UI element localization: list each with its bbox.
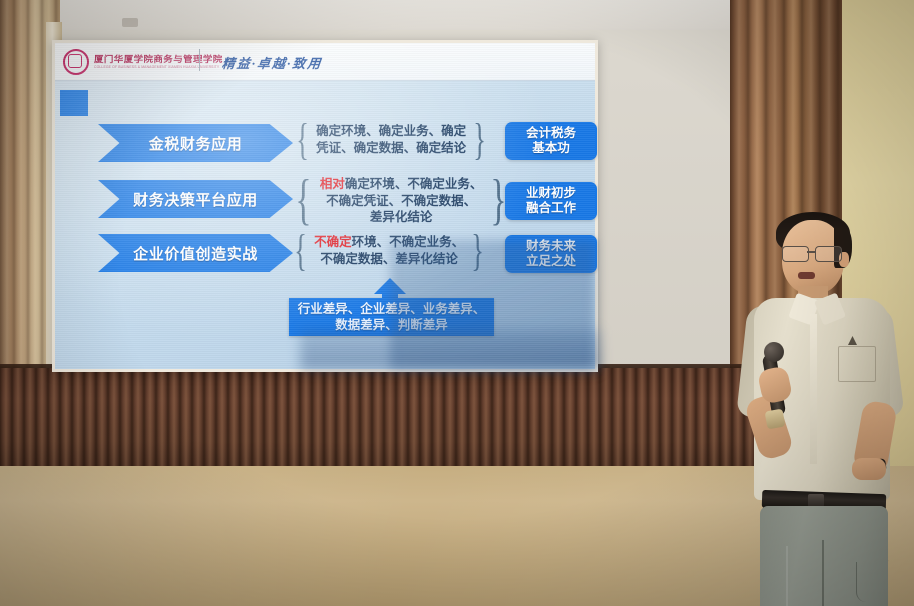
glasses-right-lens [815,246,842,262]
detail-line: 不确定凭证、不确定数据、 [320,193,483,210]
detail-text-2: 相对确定环境、不确定业务、 不确定凭证、不确定数据、 差异化结论 [317,176,486,226]
stage-chevron-2: 财务决策平台应用 [98,180,293,218]
detail-line: 凭证、确定数据、确定结论 [316,140,466,157]
photo-scene: 厦门华厦学院商务与管理学院 COLLEGE OF BUSINESS & MANA… [0,0,914,606]
detail-line-rest: 环境、不确定业务、 [352,235,465,249]
detail-line: 不确定数据、差异化结论 [314,251,464,268]
brace-close-icon: } [473,122,486,157]
seal-icon [63,49,89,75]
outcome-pill-1-line2: 基本功 [532,141,570,156]
wainscot-slats [0,368,760,473]
shirt-pocket [838,346,876,382]
header-rule [55,80,595,81]
detail-group-1: { 确定环境、确定业务、确定 凭证、确定数据、确定结论 } [292,122,490,157]
brace-close-icon: } [471,233,484,268]
slide-slogan: 精益·卓越·致用 [221,53,324,72]
stage-chevron-3-label: 企业价值创造实战 [133,243,258,264]
shirt-placket [810,314,817,464]
detail-highlight: 相对 [320,177,345,191]
mouth [798,272,815,279]
pants-crease [786,546,788,606]
outcome-pill-2-line1: 业财初步 [526,186,576,201]
brace-open-icon: { [295,178,311,223]
up-arrow-icon [374,278,406,294]
stage-chevron-1-label: 金税财务应用 [149,133,243,154]
callout-line: 行业差异、企业差异、业务差异、 [298,301,486,317]
detail-highlight: 不确定 [314,235,352,249]
detail-line: 确定环境、确定业务、确定 [316,123,466,140]
detail-group-3: { 不确定环境、不确定业务、 不确定数据、差异化结论 } [290,233,488,268]
detail-group-2: { 相对确定环境、不确定业务、 不确定凭证、不确定数据、 差异化结论 } [290,176,512,226]
brace-open-icon: { [294,233,307,268]
detail-line: 不确定环境、不确定业务、 [314,234,464,251]
glasses-icon [782,246,846,260]
microphone-base [765,409,786,430]
outcome-pill-3-line2: 立足之处 [526,254,576,269]
right-hand [852,458,886,480]
pants-seam [822,540,824,606]
differences-callout: 行业差异、企业差异、业务差异、 数据差异、判断差异 [289,298,494,336]
stage-chevron-2-label: 财务决策平台应用 [133,189,258,210]
stage-chevron-3: 企业价值创造实战 [98,234,293,272]
outcome-pill-3: 财务未来 立足之处 [505,235,597,273]
callout-text: 行业差异、企业差异、业务差异、 数据差异、判断差异 [298,301,486,334]
logo-english-name: COLLEGE OF BUSINESS & MANAGEMENT XIAMEN … [94,66,223,69]
outcome-pill-3-line1: 财务未来 [526,239,576,254]
stage-chevron-1: 金税财务应用 [98,124,293,162]
outcome-pill-1-line1: 会计税务 [526,126,576,141]
detail-line: 相对确定环境、不确定业务、 [320,176,483,193]
glasses-left-lens [782,246,809,262]
ceiling-vent-icon [122,18,138,27]
pants-pocket [856,562,881,602]
brace-open-icon: { [296,122,309,157]
glasses-bridge [807,251,815,253]
callout-line: 数据差异、判断差异 [298,317,486,333]
logo-divider [199,49,200,71]
detail-line-rest: 确定环境、不确定业务、 [345,177,483,191]
decor-blue-square [60,90,88,116]
detail-text-3: 不确定环境、不确定业务、 不确定数据、差异化结论 [311,234,467,267]
outcome-pill-2: 业财初步 融合工作 [505,182,597,220]
detail-text-1: 确定环境、确定业务、确定 凭证、确定数据、确定结论 [313,123,469,156]
detail-line: 差异化结论 [320,209,483,226]
logo-chinese-name: 厦门华厦学院商务与管理学院 [94,55,223,64]
outcome-pill-1: 会计税务 基本功 [505,122,597,160]
outcome-pill-2-line2: 融合工作 [526,201,576,216]
presenter [742,210,914,606]
